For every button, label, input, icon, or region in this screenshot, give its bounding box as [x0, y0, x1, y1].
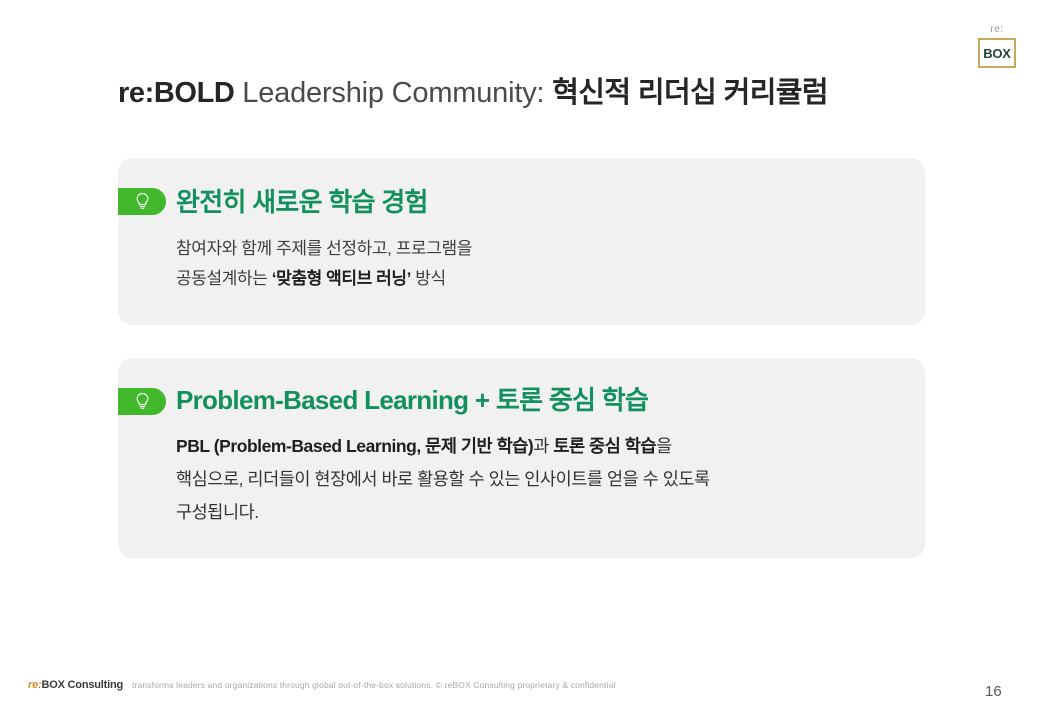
card-heading: Problem-Based Learning + 토론 중심 학습 — [176, 384, 648, 416]
brand-mark-logo: re: BOX — [976, 24, 1018, 74]
brand-mark-box-text: BOX — [983, 47, 1011, 60]
text-run: 방식 — [411, 269, 446, 288]
page-title-subject: Leadership Community: — [234, 77, 552, 109]
text-run-bold: ‘맞춤형 액티브 러닝’ — [272, 269, 411, 288]
lightbulb-icon — [134, 392, 151, 411]
lightbulb-icon — [134, 192, 151, 211]
page-title-korean: 혁신적 리더십 커리큘럼 — [552, 77, 828, 109]
page-title-brand: re:BOLD — [118, 77, 234, 109]
card-body-line: 공동설계하는 ‘맞춤형 액티브 러닝’ 방식 — [176, 264, 472, 294]
lightbulb-icon-badge — [118, 388, 166, 415]
text-run: 과 — [533, 436, 553, 456]
text-run: 구성됩니다. — [176, 502, 259, 522]
footer-logo-re: re: — [28, 679, 41, 691]
text-run: 공동설계하는 — [176, 269, 272, 288]
card-body: PBL (Problem-Based Learning, 문제 기반 학습)과 … — [176, 430, 710, 529]
lightbulb-icon-badge — [118, 188, 166, 215]
footer-logo-box: BOX Consulting — [41, 679, 123, 691]
footer-tagline: transforms leaders and organizations thr… — [132, 680, 616, 690]
page-title: re:BOLD Leadership Community: 혁신적 리더십 커리… — [118, 74, 828, 112]
text-run: 을 — [656, 436, 672, 456]
content-card: Problem-Based Learning + 토론 중심 학습 PBL (P… — [118, 358, 925, 558]
text-run: 핵심으로, 리더들이 현장에서 바로 활용할 수 있는 인사이트를 얻을 수 있… — [176, 469, 710, 489]
card-body-line: 핵심으로, 리더들이 현장에서 바로 활용할 수 있는 인사이트를 얻을 수 있… — [176, 463, 710, 496]
card-heading: 완전히 새로운 학습 경험 — [176, 186, 428, 218]
text-run-bold: 토론 중심 학습 — [553, 436, 656, 456]
card-body-line: 참여자와 함께 주제를 선정하고, 프로그램을 — [176, 234, 472, 264]
text-run-bold: PBL (Problem-Based Learning, 문제 기반 학습) — [176, 436, 533, 456]
content-card: 완전히 새로운 학습 경험 참여자와 함께 주제를 선정하고, 프로그램을 공동… — [118, 158, 925, 325]
text-run: 참여자와 함께 주제를 선정하고, 프로그램을 — [176, 239, 472, 258]
card-body: 참여자와 함께 주제를 선정하고, 프로그램을 공동설계하는 ‘맞춤형 액티브 … — [176, 234, 472, 294]
brand-mark-re-text: re: — [976, 24, 1018, 36]
card-body-line: PBL (Problem-Based Learning, 문제 기반 학습)과 … — [176, 430, 710, 463]
card-body-line: 구성됩니다. — [176, 496, 710, 529]
page-number: 16 — [985, 683, 1002, 700]
footer: re:BOX Consulting transforms leaders and… — [28, 679, 616, 691]
brand-mark-box-frame: BOX — [978, 38, 1016, 68]
